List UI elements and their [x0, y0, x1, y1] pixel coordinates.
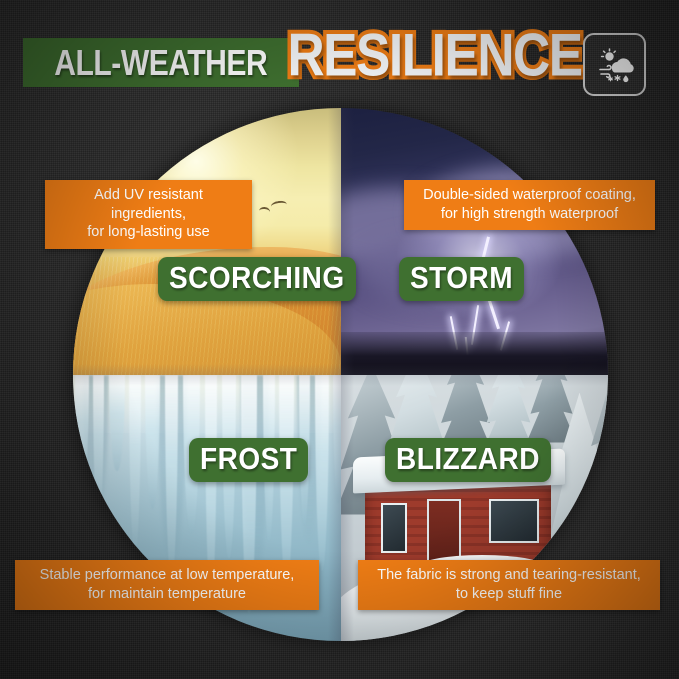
quadrant-label-frost: FROST [189, 438, 308, 482]
title-part1: ALL-WEATHER [55, 41, 268, 83]
caption-scorching: Add UV resistant ingredients, for long-l… [45, 180, 252, 249]
caption-scorching-line2: for long-lasting use [56, 223, 241, 242]
storm-horizon [341, 332, 609, 375]
title-part2: RESILIENCE [287, 21, 581, 91]
caption-storm-line1: Double-sided waterproof coating, [415, 186, 644, 205]
icicle [315, 375, 329, 571]
caption-blizzard-line2: to keep stuff fine [369, 585, 649, 604]
storm-scene [341, 108, 609, 375]
weather-badge [583, 33, 646, 96]
all-weather-resilience-poster: ALL-WEATHER RESILIENCE [0, 0, 679, 679]
caption-blizzard-line1: The fabric is strong and tearing-resista… [369, 566, 649, 585]
sun-cloud-rain-snow-wind-icon [595, 45, 635, 85]
caption-frost: Stable performance at low temperature, f… [15, 560, 319, 610]
quadrant-storm-image [341, 108, 609, 375]
icicle [333, 375, 341, 503]
caption-scorching-line1: Add UV resistant ingredients, [56, 186, 241, 223]
caption-frost-line1: Stable performance at low temperature, [26, 566, 308, 585]
caption-storm-line2: for high strength waterproof [415, 205, 644, 224]
quadrant-label-storm: STORM [399, 257, 524, 301]
icicle [145, 375, 160, 509]
poster-header: ALL-WEATHER RESILIENCE [0, 0, 679, 108]
title-green-band: ALL-WEATHER [23, 38, 299, 87]
quadrant-label-scorching: SCORCHING [158, 257, 356, 301]
icicle [129, 375, 141, 553]
icicle [109, 375, 125, 471]
caption-storm: Double-sided waterproof coating, for hig… [404, 180, 655, 230]
cabin-door [427, 499, 461, 565]
cabin-window [381, 503, 407, 553]
caption-frost-line2: for maintain temperature [26, 585, 308, 604]
caption-blizzard: The fabric is strong and tearing-resista… [358, 560, 660, 610]
quadrant-label-blizzard: BLIZZARD [385, 438, 551, 482]
cabin-window [489, 499, 539, 543]
